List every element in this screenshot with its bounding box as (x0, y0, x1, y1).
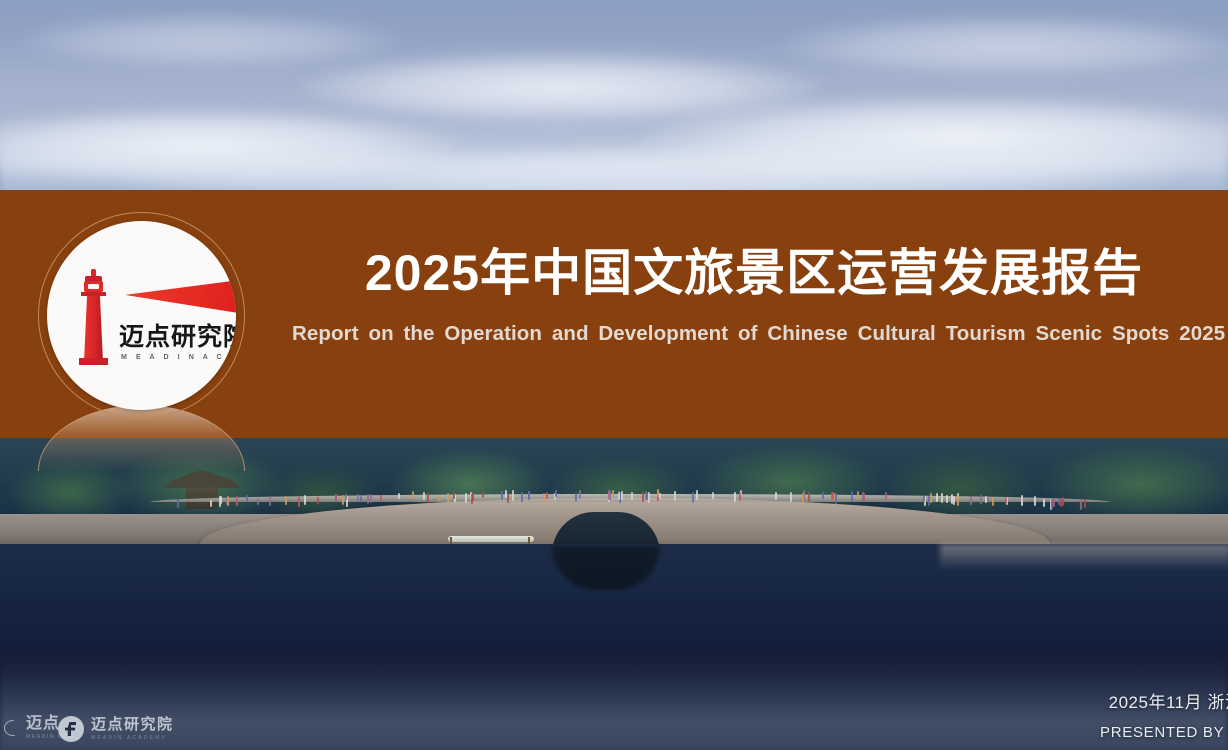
crowd-figure (342, 495, 344, 505)
crowd-figure (210, 500, 212, 507)
crowd-figure (692, 492, 694, 502)
lighthouse-icon (77, 269, 111, 365)
lighthouse-body (84, 296, 103, 362)
crowd-figure (521, 492, 523, 502)
crowd-figure (555, 490, 557, 496)
crowd-figure (946, 495, 948, 503)
crowd-figure (177, 499, 179, 508)
crowd-figure (857, 491, 859, 500)
crowd-figure (360, 496, 362, 503)
crowd-figure (1034, 496, 1036, 506)
crowd-figure (269, 496, 271, 505)
brand-logo: 迈点研究院 M E A D I N A C A D E M Y (38, 212, 245, 419)
crowd-figure (631, 492, 633, 500)
footer-presented-by: PRESENTED BY 迈点研 (898, 721, 1228, 742)
crowd-figure (427, 493, 429, 503)
crowd-figure (438, 495, 440, 502)
crowd-figure (987, 496, 989, 502)
footer-date-place: 2025年11月 浙江·杭 (898, 688, 1228, 713)
crowd-figure (1058, 498, 1060, 505)
page-subtitle: Report on the Operation and Development … (292, 322, 1216, 346)
crowd-figure (579, 490, 581, 500)
crowd-figure (941, 493, 943, 503)
crowd-figure (1005, 497, 1007, 505)
light-beam-icon (125, 271, 236, 323)
crowd-figure (471, 494, 473, 504)
crowd-figure (227, 496, 229, 506)
title-block: 2025年中国文旅景区运营发展报告 Report on the Operatio… (292, 246, 1216, 346)
crowd-figure (992, 497, 994, 505)
crowd-figure (618, 492, 620, 499)
crowd-figure (285, 496, 287, 505)
swoosh-icon (4, 720, 22, 736)
crowd-figure (501, 491, 503, 500)
crowd-figure (835, 494, 837, 503)
report-cover-slide: 迈点研究院 M E A D I N A C A D E M Y 2025年中国文… (0, 0, 1228, 750)
crowd-figure (957, 496, 959, 507)
boat-canopy (448, 536, 534, 542)
crowd-figure (930, 493, 932, 503)
crowd-figure (317, 497, 319, 504)
crowd-figure (1051, 499, 1053, 509)
crowd-figure (412, 491, 414, 499)
crowd-figure (219, 496, 221, 507)
crowd-figure (335, 494, 337, 501)
crowd-figure (367, 494, 369, 504)
crowd-figure (985, 496, 987, 504)
footer-credits: 2025年11月 浙江·杭 PRESENTED BY 迈点研 (898, 688, 1228, 742)
crowd-figure (822, 492, 824, 498)
crowd-figure (970, 496, 972, 504)
logo-name-cn: 迈点研究院 (119, 325, 236, 350)
crowd-figure (370, 494, 372, 503)
sky-haze (0, 120, 1228, 200)
logo-name-en: M E A D I N A C A D E M Y (121, 354, 236, 361)
crowd-figure (380, 495, 382, 502)
crowd-figure (951, 494, 953, 504)
watermark-academy-text: 迈点研究院 MEADIN ACADEMY (91, 717, 174, 741)
crowd-figure (528, 491, 530, 500)
crowd-figure (621, 491, 623, 500)
crowd-figure (790, 492, 792, 502)
cloud (780, 16, 1228, 76)
crowd-figure (802, 493, 804, 504)
crowd-figure (936, 493, 938, 502)
crowd-figure (712, 492, 714, 499)
crowd-figure (1062, 497, 1064, 507)
lighthouse-deck (81, 292, 106, 296)
far-shore-highlight (940, 544, 1228, 570)
crowd-figure (257, 498, 259, 505)
crowd-figure (648, 492, 650, 503)
lighthouse-lamp (84, 281, 103, 292)
crowd-figure (608, 490, 610, 500)
crowd-figure (739, 492, 741, 501)
crowd-figure (1021, 495, 1023, 506)
crowd-figure (953, 496, 955, 505)
crowd-figure (659, 493, 661, 499)
lighthouse-base (79, 358, 108, 365)
crowd-figure (980, 495, 982, 505)
crowd-figure (923, 495, 925, 502)
crowd-figure (453, 492, 455, 498)
cloud (20, 14, 400, 68)
crowd-figure (575, 493, 577, 502)
crowd-figure (447, 493, 449, 503)
crowd-figure (246, 495, 248, 502)
crowd-figure (482, 492, 484, 498)
logo-disc: 迈点研究院 M E A D I N A C A D E M Y (47, 221, 236, 410)
crowd-figure (1080, 500, 1082, 510)
crowd-figure (674, 491, 676, 502)
crowd-figure (546, 492, 548, 499)
watermark-sublabel: MEADIN ACADEMY (91, 735, 174, 741)
sky-region (0, 0, 1228, 200)
crowd-figure (696, 490, 698, 501)
crowd-figure (423, 492, 425, 500)
crowd-figure (345, 494, 347, 501)
crowd-figure (612, 490, 614, 497)
crowd-figure (831, 492, 833, 499)
crowd-figure (657, 489, 659, 497)
crowd-figure (1060, 499, 1062, 507)
crowd-figure (507, 493, 509, 503)
page-title: 2025年中国文旅景区运营发展报告 (292, 246, 1216, 300)
watermark-label: 迈点研究院 (91, 717, 174, 732)
crowd-figure (642, 492, 644, 502)
crowd-figure (1043, 499, 1045, 507)
crowd-figure (885, 492, 887, 500)
badge-a-icon (58, 716, 84, 742)
crowd-figure (851, 491, 853, 502)
watermark-meadin-academy: 迈点研究院 MEADIN ACADEMY (58, 716, 174, 742)
crowd-figure (734, 492, 736, 502)
